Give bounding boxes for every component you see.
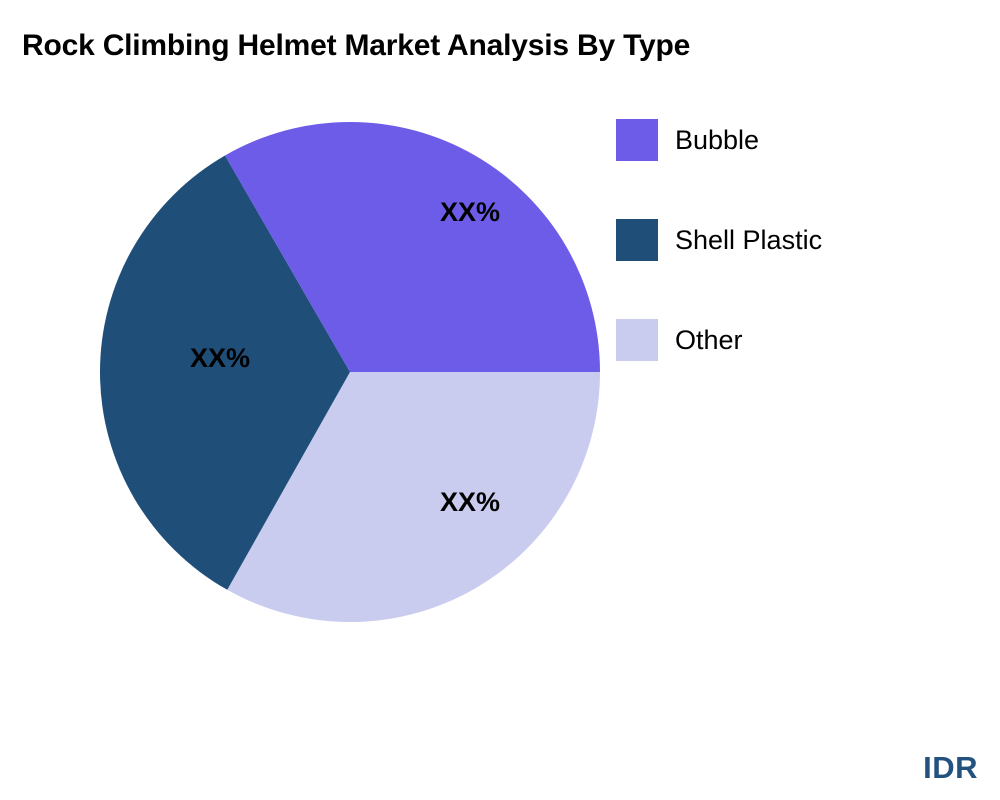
pie-slice-label-other: XX% xyxy=(440,197,500,227)
pie-slice-label-bubble: XX% xyxy=(440,487,500,517)
chart-legend: Bubble Shell Plastic Other xyxy=(616,119,976,361)
idr-watermark-logo: IDR xyxy=(923,750,978,786)
legend-swatch-icon-other xyxy=(616,319,658,361)
legend-label-shell-plastic: Shell Plastic xyxy=(675,219,822,261)
legend-label-bubble: Bubble xyxy=(675,119,759,161)
legend-item-other[interactable]: Other xyxy=(616,319,976,361)
legend-swatch-icon-shell-plastic xyxy=(616,219,658,261)
legend-item-shell-plastic[interactable]: Shell Plastic xyxy=(616,219,976,261)
legend-label-other: Other xyxy=(675,319,743,361)
pie-slice-group xyxy=(100,122,600,622)
legend-swatch-icon-bubble xyxy=(616,119,658,161)
pie-slice-label-shell-plastic: XX% xyxy=(190,343,250,373)
legend-item-bubble[interactable]: Bubble xyxy=(616,119,976,161)
